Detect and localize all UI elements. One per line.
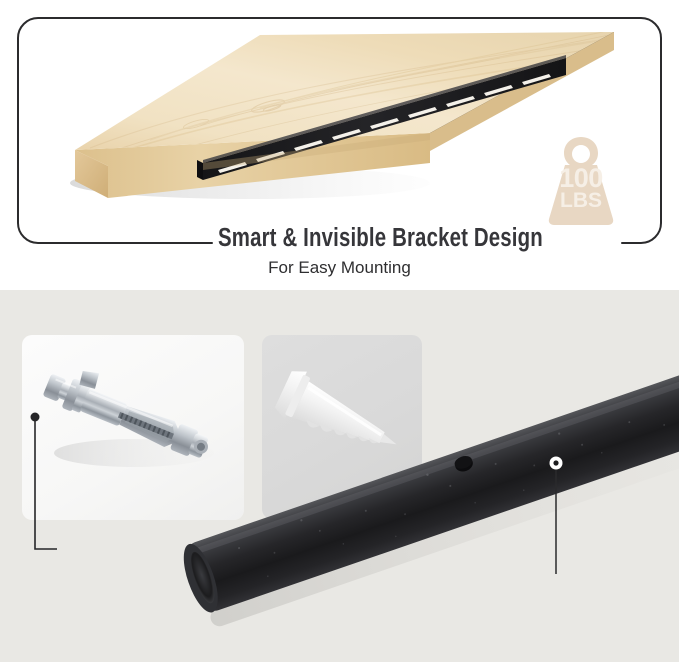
page-subheadline: For Easy Mounting bbox=[0, 258, 679, 278]
left-callout-dot bbox=[31, 413, 40, 422]
callout-leader-lines bbox=[0, 290, 679, 662]
top-feature-section: 100 LBS Smart & Invisible Bracket Design… bbox=[0, 0, 679, 290]
bottom-materials-section: Upgrade Metal Anchors heavy-duty Made of… bbox=[0, 290, 679, 662]
page-headline: Smart & Invisible Bracket Design bbox=[218, 224, 543, 253]
product-infographic: 100 LBS Smart & Invisible Bracket Design… bbox=[0, 0, 679, 662]
